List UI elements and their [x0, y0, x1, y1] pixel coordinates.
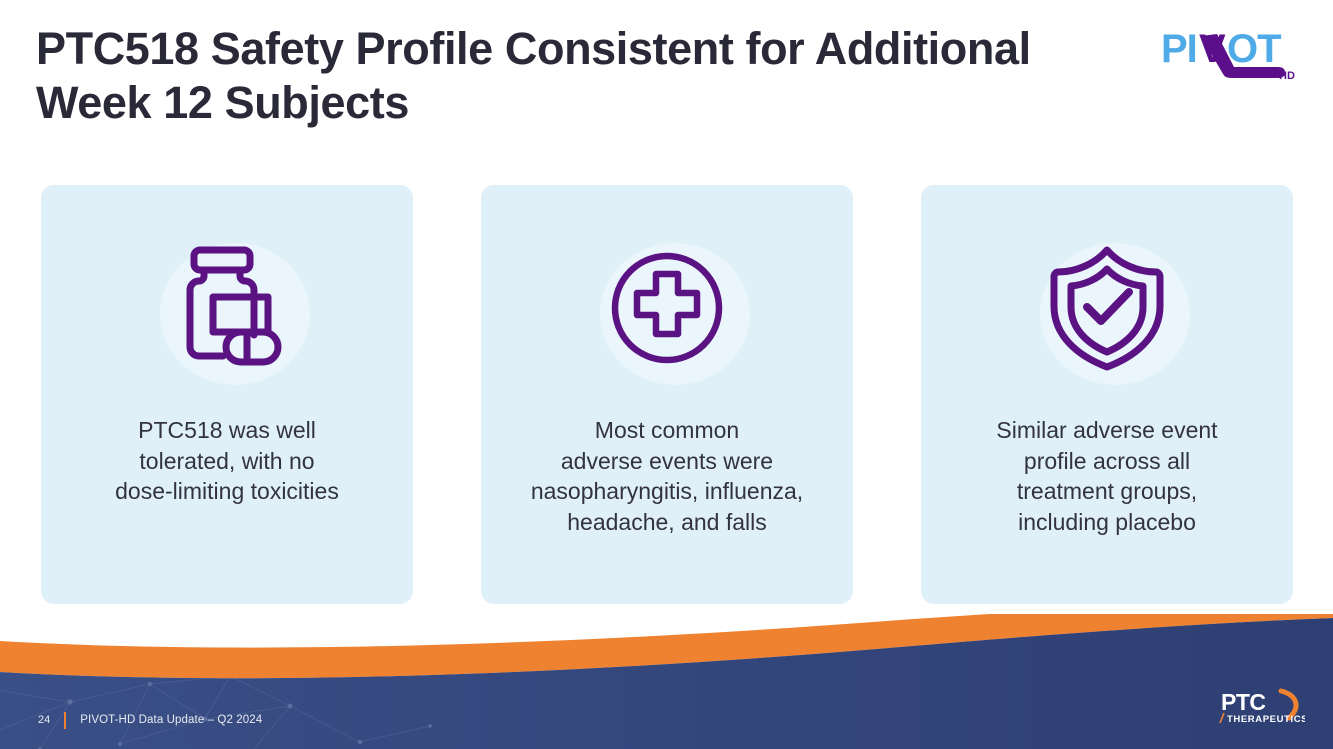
card-icon-area — [481, 223, 853, 393]
svg-text:THERAPEUTICS: THERAPEUTICS — [1227, 714, 1305, 725]
card-text-line: dose-limiting toxicities — [51, 476, 403, 507]
footer-divider — [64, 712, 66, 729]
card-text: Most common adverse events were nasophar… — [491, 415, 843, 537]
card-icon-area — [41, 223, 413, 393]
card-text-line: treatment groups, — [931, 476, 1283, 507]
svg-text:V: V — [1199, 27, 1226, 71]
footer-slide-label: 24 PIVOT-HD Data Update – Q2 2024 — [38, 711, 262, 729]
card-text: Similar adverse event profile across all… — [931, 415, 1283, 537]
feature-card-row: PTC518 was well tolerated, with no dose-… — [41, 185, 1293, 604]
card-text-line: Most common — [491, 415, 843, 446]
card-text-line: tolerated, with no — [51, 446, 403, 477]
card-icon-area — [921, 223, 1293, 393]
pill-bottle-icon — [171, 245, 283, 371]
svg-text:PTC: PTC — [1221, 689, 1266, 715]
card-text-line: Similar adverse event — [931, 415, 1283, 446]
shield-check-icon — [1048, 244, 1166, 372]
pivot-hd-logo: PI V OT HD — [1161, 26, 1297, 82]
card-text-line: headache, and falls — [491, 507, 843, 538]
page-title: PTC518 Safety Profile Consistent for Add… — [36, 22, 1126, 130]
card-text-line: profile across all — [931, 446, 1283, 477]
card-text-line: nasopharyngitis, influenza, — [491, 476, 843, 507]
card-similar-profile: Similar adverse event profile across all… — [921, 185, 1293, 604]
slide-number: 24 — [38, 711, 50, 729]
deck-title: PIVOT-HD Data Update – Q2 2024 — [80, 711, 262, 729]
card-safety-tolerability: PTC518 was well tolerated, with no dose-… — [41, 185, 413, 604]
card-text-line: including placebo — [931, 507, 1283, 538]
card-common-adverse-events: Most common adverse events were nasophar… — [481, 185, 853, 604]
svg-text:PI: PI — [1161, 27, 1197, 71]
svg-text:HD: HD — [1279, 70, 1295, 82]
slide-root: PTC518 Safety Profile Consistent for Add… — [0, 0, 1333, 749]
card-text-line: adverse events were — [491, 446, 843, 477]
card-text-line: PTC518 was well — [51, 415, 403, 446]
medical-cross-circle-icon — [609, 250, 725, 366]
card-text: PTC518 was well tolerated, with no dose-… — [51, 415, 403, 507]
footer-wave: 24 PIVOT-HD Data Update – Q2 2024 PTC TH… — [0, 614, 1333, 749]
svg-text:OT: OT — [1227, 27, 1281, 71]
ptc-therapeutics-logo: PTC THERAPEUTICS — [1219, 687, 1305, 727]
